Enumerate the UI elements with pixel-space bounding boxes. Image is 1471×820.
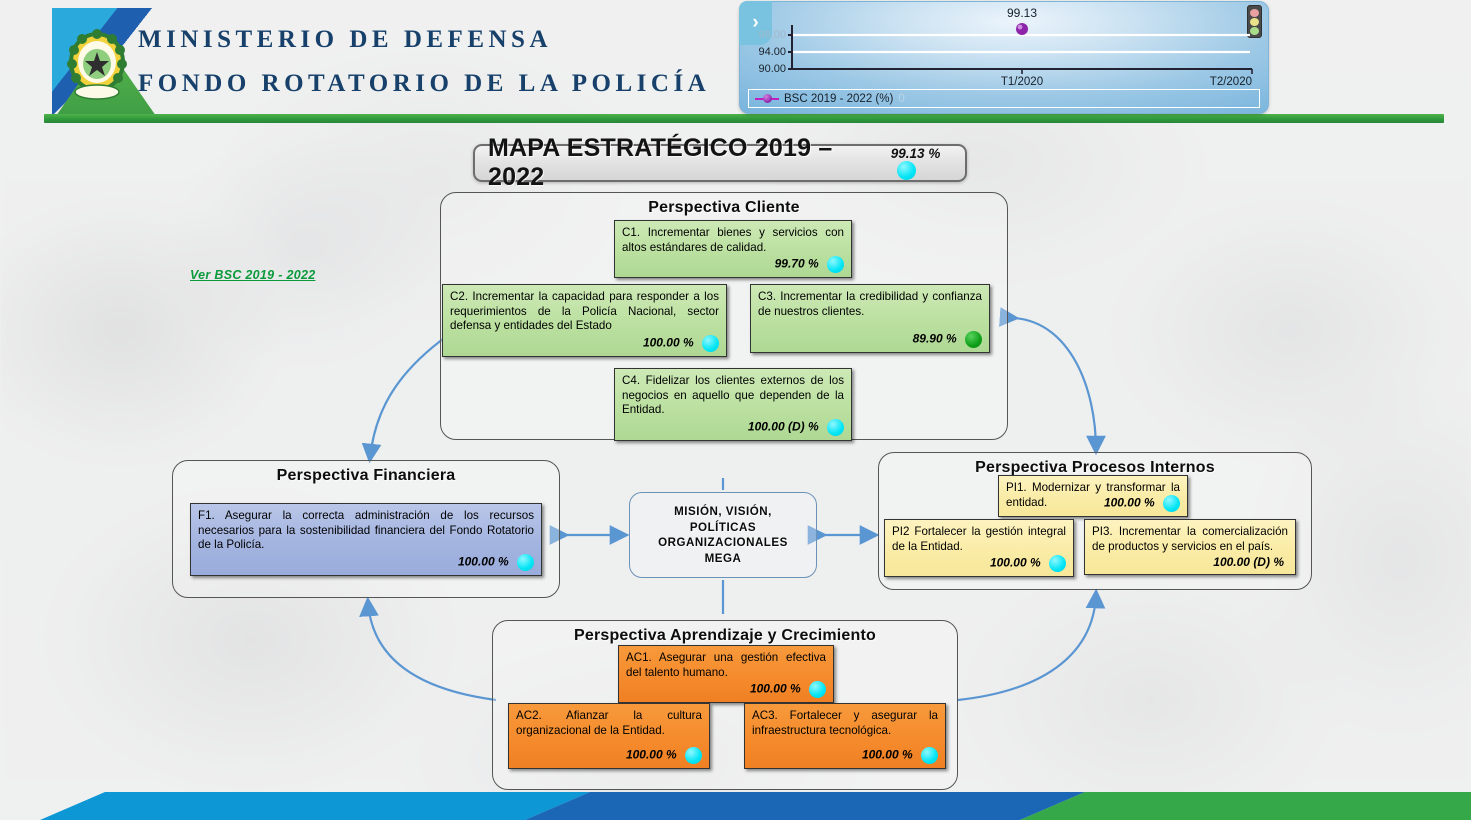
objective-score-ac2: 100.00 %	[516, 747, 702, 764]
status-dot-c1	[827, 256, 844, 273]
score-value-c1: 99.70	[775, 257, 805, 271]
status-dot-ac1	[809, 681, 826, 698]
score-unit-c4: %	[808, 419, 819, 433]
chart-xtick-0: T1/2020	[1001, 76, 1043, 87]
legend-marker-icon	[755, 94, 779, 104]
ver-bsc-link[interactable]: Ver BSC 2019 - 2022	[190, 268, 315, 282]
score-unit-pi1: %	[1144, 496, 1155, 510]
objective-box-ac3[interactable]: AC3. Fortalecer y asegurar la infraestru…	[744, 703, 946, 769]
objective-text-c1: C1. Incrementar bienes y servicios con a…	[622, 226, 844, 254]
map-score: 99.13 %	[891, 146, 965, 180]
score-value-ac2: 100.00	[626, 748, 663, 762]
header-title-line2: FONDO ROTATORIO DE LA POLICÍA	[138, 62, 710, 106]
status-dot-pi1	[1163, 495, 1180, 512]
strategic-map-page: MINISTERIO DE DEFENSA FONDO ROTATORIO DE…	[0, 0, 1471, 820]
objective-score-pi3: 100.00 (D) %	[1092, 555, 1288, 570]
chart-ytick-0: 90.00	[758, 63, 786, 75]
objective-score-ac1: 100.00 %	[626, 681, 826, 698]
score-unit-c1: %	[808, 257, 819, 271]
score-value-c4: 100.00	[748, 419, 785, 433]
objective-text-c3: C3. Incrementar la credibilidad y confia…	[758, 290, 982, 318]
score-unit-pi3: %	[1273, 555, 1284, 569]
header-title-line1: MINISTERIO DE DEFENSA	[138, 18, 710, 62]
score-value-ac1: 100.00	[750, 682, 787, 696]
objective-score-c2: 100.00 %	[450, 335, 719, 352]
score-unit-ac2: %	[666, 748, 677, 762]
score-value-c2: 100.00	[643, 335, 680, 349]
status-dot-pi2	[1049, 555, 1066, 572]
score-value-pi3: 100.00	[1213, 555, 1250, 569]
objective-box-c4[interactable]: C4. Fidelizar los clientes externos de l…	[614, 368, 852, 441]
score-suffix-c4: (D)	[788, 419, 805, 433]
score-value-c3: 89.90	[913, 332, 943, 346]
legend-label: BSC 2019 - 2022 (%)	[784, 93, 893, 105]
map-title-banner: MAPA ESTRATÉGICO 2019 – 2022 99.13 %	[473, 144, 967, 182]
score-value-ac3: 100.00	[862, 748, 899, 762]
score-unit-ac3: %	[902, 748, 913, 762]
bottom-decorative-ribbon	[0, 770, 1471, 820]
objective-box-c1[interactable]: C1. Incrementar bienes y servicios con a…	[614, 220, 852, 278]
chart-plot-area: 98.00 94.00 90.00 T1/2020 T2/2020 99.13	[750, 7, 1258, 87]
objective-text-f1: F1. Asegurar la correcta administración …	[198, 509, 534, 551]
panel-title-financiera: Perspectiva Financiera	[173, 467, 559, 485]
chart-data-point-0	[1016, 23, 1028, 35]
chart-xtick-1: T2/2020	[1210, 76, 1252, 87]
objective-text-c2: C2. Incrementar la capacidad para respon…	[450, 290, 719, 332]
score-value-f1: 100.00	[458, 554, 495, 568]
ribbon-segment-green	[1020, 792, 1471, 820]
score-value-pi1: 100.00	[1104, 496, 1141, 510]
objective-box-c3[interactable]: C3. Incrementar la credibilidad y confia…	[750, 284, 990, 353]
chart-point-label-0: 99.13	[1007, 7, 1037, 20]
objective-box-f1[interactable]: F1. Asegurar la correcta administración …	[190, 503, 542, 576]
objective-box-ac2[interactable]: AC2. Afianzar la cultura organizacional …	[508, 703, 710, 769]
police-seal-icon	[66, 28, 128, 100]
objective-box-ac1[interactable]: AC1. Asegurar una gestión efectiva del t…	[618, 645, 834, 703]
chart-ytick-1: 94.00	[758, 46, 786, 58]
objective-score-c4: 100.00 (D) %	[622, 419, 844, 436]
bsc-trend-chart-widget[interactable]: › 98.00 94.00 90.00 T1/2020 T2/2020	[739, 1, 1269, 114]
objective-text-pi2: PI2 Fortalecer la gestión integral de la…	[892, 525, 1066, 553]
mega-center-box[interactable]: MISIÓN, VISIÓN, POLÍTICAS ORGANIZACIONAL…	[629, 492, 817, 578]
objective-text-ac1: AC1. Asegurar una gestión efectiva del t…	[626, 651, 826, 679]
status-dot-c2	[702, 335, 719, 352]
score-unit-f1: %	[498, 554, 509, 568]
status-dot-cyan	[897, 161, 916, 180]
objective-score-f1: 100.00 %	[198, 554, 534, 571]
page-title: MAPA ESTRATÉGICO 2019 – 2022	[488, 134, 875, 192]
header-green-divider	[44, 114, 1444, 123]
panel-title-aprendizaje: Perspectiva Aprendizaje y Crecimiento	[493, 627, 957, 645]
chart-ytick-2: 98.00	[758, 29, 786, 41]
score-unit-pi2: %	[1030, 556, 1041, 570]
legend-count: 0	[898, 93, 904, 105]
status-dot-ac2	[685, 747, 702, 764]
objective-text-ac2: AC2. Afianzar la cultura organizacional …	[516, 709, 702, 737]
status-dot-f1	[517, 554, 534, 571]
mega-text: MISIÓN, VISIÓN, POLÍTICAS ORGANIZACIONAL…	[658, 504, 788, 566]
objective-text-c4: C4. Fidelizar los clientes externos de l…	[622, 374, 844, 416]
score-unit-ac1: %	[790, 682, 801, 696]
status-dot-c3	[965, 331, 982, 348]
objective-score-pi2: 100.00 %	[892, 555, 1066, 572]
score-unit-c3: %	[946, 332, 957, 346]
header-title-group: MINISTERIO DE DEFENSA FONDO ROTATORIO DE…	[138, 18, 710, 106]
ribbon-segment-light-blue	[40, 792, 590, 820]
objective-box-c2[interactable]: C2. Incrementar la capacidad para respon…	[442, 284, 727, 357]
objective-score-c3: 89.90 %	[758, 331, 982, 348]
score-suffix-pi3: (D)	[1253, 555, 1270, 569]
ribbon-segment-dark-blue	[525, 792, 1085, 820]
status-dot-c4	[827, 419, 844, 436]
objective-score-c1: 99.70 %	[622, 256, 844, 273]
map-score-value: 99.13	[891, 146, 925, 161]
status-dot-ac3	[921, 747, 938, 764]
objective-box-pi1[interactable]: PI1. Modernizar y transformar la entidad…	[998, 475, 1188, 517]
objective-box-pi3[interactable]: PI3. Incrementar la comercialización de …	[1084, 519, 1296, 575]
objective-text-pi3: PI3. Incrementar la comercialización de …	[1092, 525, 1288, 553]
objective-text-ac3: AC3. Fortalecer y asegurar la infraestru…	[752, 709, 938, 737]
panel-title-cliente: Perspectiva Cliente	[441, 199, 1007, 217]
chart-legend[interactable]: BSC 2019 - 2022 (%) 0	[748, 89, 1260, 108]
objective-score-ac3: 100.00 %	[752, 747, 938, 764]
objective-box-pi2[interactable]: PI2 Fortalecer la gestión integral de la…	[884, 519, 1074, 577]
score-unit-c2: %	[683, 335, 694, 349]
score-value-pi2: 100.00	[990, 556, 1027, 570]
map-score-unit: %	[928, 146, 940, 161]
